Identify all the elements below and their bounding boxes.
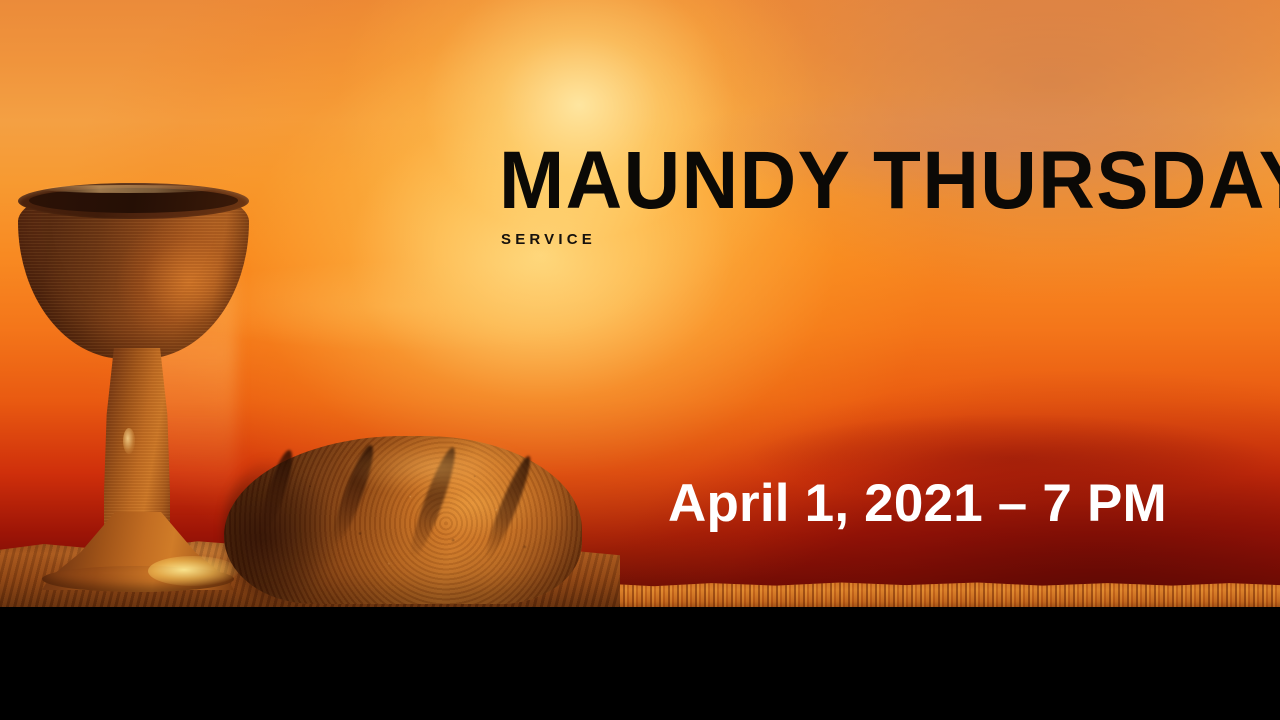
bread-top-highlight: [330, 440, 546, 502]
sunset-background-photo: MAUNDY THURSDAY SERVICE April 1, 2021 – …: [0, 0, 1280, 607]
chalice-rim-highlight: [40, 185, 215, 193]
chalice-stem-chip: [123, 428, 135, 454]
page-title: MAUNDY THURSDAY: [499, 140, 1280, 222]
page-subtitle: SERVICE: [501, 231, 596, 248]
letterbox-bar: [0, 607, 1280, 720]
event-datetime: April 1, 2021 – 7 PM: [668, 477, 1167, 530]
maundy-thursday-slide: MAUNDY THURSDAY SERVICE April 1, 2021 – …: [0, 0, 1280, 720]
chalice-foot-highlight: [148, 556, 238, 586]
